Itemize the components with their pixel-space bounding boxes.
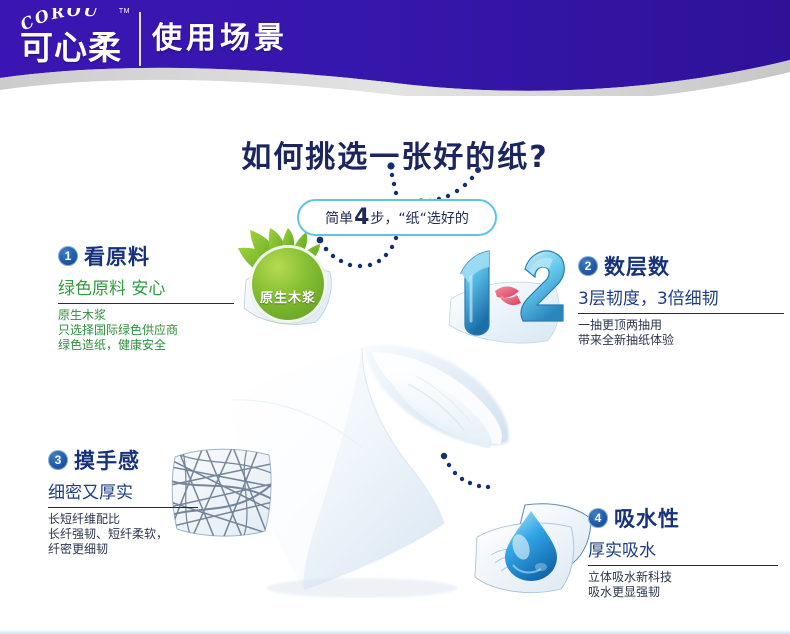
header-divider: [139, 12, 141, 66]
section-2-body-line: 带来全新抽纸体验: [578, 333, 784, 348]
brand-logo: COROU TM 可心柔: [12, 6, 130, 72]
section-3-body-line: 长纤强韧、短纤柔软，: [48, 527, 198, 542]
section-2-rule: [578, 313, 784, 314]
section-2: 2 数层数 3层韧度，3倍细韧 一抽更顶两抽用 带来全新抽纸体验: [578, 251, 784, 348]
section-3: 3 摸手感 细密又厚实 长短纤维配比 长纤强韧、短纤柔软， 纤密更细韧: [48, 445, 198, 557]
section-1-head: 1 看原料: [58, 241, 234, 271]
page-header: COROU TM 可心柔 使用场景: [0, 0, 790, 96]
section-4-body: 立体吸水新科技 吸水更显强韧: [588, 570, 778, 600]
pulp-badge-circle: 原生木浆: [252, 248, 324, 320]
section-2-head: 2 数层数: [578, 251, 784, 281]
subtitle-pill: 简单 4 步，“纸“选好的: [297, 199, 497, 236]
section-1-body-line: 只选择国际绿色供应商: [58, 323, 234, 338]
section-2-body: 一抽更顶两抽用 带来全新抽纸体验: [578, 318, 784, 348]
section-2-body-line: 一抽更顶两抽用: [578, 318, 784, 333]
section-1-title: 看原料: [84, 241, 150, 271]
section-4-rule: [588, 565, 778, 566]
water-drop-illustration: [473, 497, 597, 601]
subtitle-suffix: 步，“纸“选好的: [370, 208, 469, 228]
section-3-rule: [48, 507, 198, 508]
section-4: 4 吸水性 厚实吸水 立体吸水新科技 吸水更显强韧: [588, 503, 778, 600]
bottom-rule: [0, 630, 790, 634]
section-1-rule: [58, 303, 234, 304]
layers-number-illustration: [443, 243, 571, 347]
brand-logo-cn: 可心柔: [12, 28, 130, 68]
pulp-badge-label: 原生木浆: [260, 287, 316, 306]
subtitle-prefix: 简单: [325, 208, 353, 228]
section-1-body: 原生木浆 只选择国际绿色供应商 绿色造纸，健康安全: [58, 308, 234, 353]
section-4-head: 4 吸水性: [588, 503, 778, 533]
section-3-body-line: 纤密更细韧: [48, 542, 198, 557]
section-3-title: 摸手感: [74, 445, 140, 475]
page-title: 如何挑选一张好的纸?: [0, 132, 790, 176]
section-2-title: 数层数: [604, 251, 670, 281]
section-4-subtitle: 厚实吸水: [588, 536, 778, 561]
section-3-body: 长短纤维配比 长纤强韧、短纤柔软， 纤密更细韧: [48, 512, 198, 557]
section-2-subtitle: 3层韧度，3倍细韧: [578, 284, 784, 309]
section-1-body-line: 绿色造纸，健康安全: [58, 338, 234, 353]
trademark-icon: TM: [119, 8, 130, 15]
section-3-subtitle: 细密又厚实: [48, 478, 198, 503]
section-1-number-badge: 1: [58, 246, 78, 266]
header-title: 使用场景: [152, 18, 288, 60]
digit-one-icon: [461, 251, 489, 335]
section-1: 1 看原料 绿色原料 安心 原生木浆 只选择国际绿色供应商 绿色造纸，健康安全: [58, 241, 234, 353]
subtitle-step-count: 4: [353, 207, 370, 229]
section-3-head: 3 摸手感: [48, 445, 198, 475]
section-3-body-line: 长短纤维配比: [48, 512, 198, 527]
page-root: COROU TM 可心柔 使用场景 如何挑选一张好的纸? 简单 4 步，“纸“选…: [0, 0, 790, 634]
section-1-body-line: 原生木浆: [58, 308, 234, 323]
section-2-number-badge: 2: [578, 256, 598, 276]
section-4-body-line: 立体吸水新科技: [588, 570, 778, 585]
section-1-subtitle: 绿色原料 安心: [58, 274, 234, 299]
pulp-badge-illustration: 原生木浆: [230, 228, 342, 332]
section-4-body-line: 吸水更显强韧: [588, 585, 778, 600]
section-4-title: 吸水性: [614, 503, 680, 533]
section-3-number-badge: 3: [48, 450, 68, 470]
section-4-number-badge: 4: [588, 508, 608, 528]
